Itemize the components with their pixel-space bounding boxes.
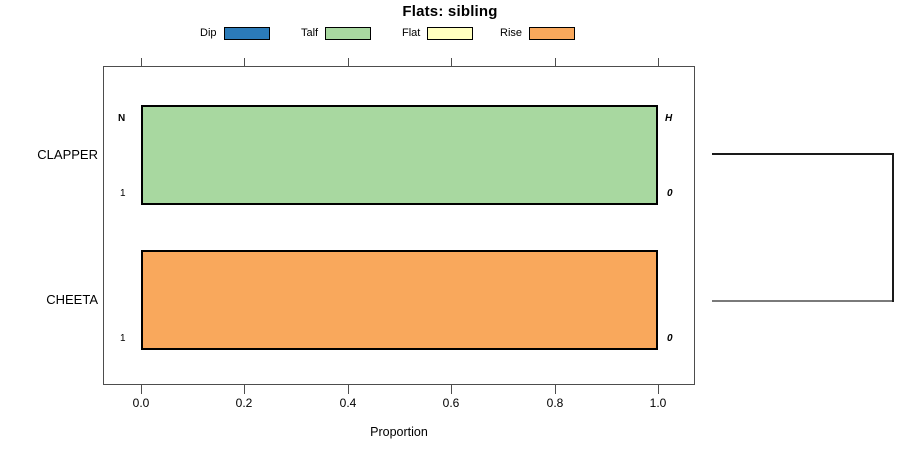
x-tick-2 — [348, 385, 349, 394]
top-tick-5 — [658, 58, 659, 67]
bar-ann-clapper-bottom-right: 0 — [667, 188, 673, 199]
legend-label-dip: Dip — [200, 27, 217, 39]
legend-label-flat: Flat — [402, 27, 420, 39]
legend-swatch-rise — [529, 27, 575, 40]
bar-ann-clapper-top-left: N — [118, 113, 125, 124]
x-tick-5 — [658, 385, 659, 394]
top-tick-1 — [244, 58, 245, 67]
chart-canvas: Flats: sibling Dip Talf Flat Rise 0.0 — [0, 0, 900, 460]
x-tick-label-2: 0.4 — [328, 396, 368, 410]
dendrogram-join-vertical — [892, 153, 894, 302]
legend-label-talf: Talf — [301, 27, 318, 39]
bar-clapper[interactable] — [141, 105, 658, 205]
x-tick-label-5: 1.0 — [638, 396, 678, 410]
dendrogram-branch-bottom — [712, 300, 894, 302]
x-tick-label-4: 0.8 — [535, 396, 575, 410]
top-tick-4 — [555, 58, 556, 67]
legend: Dip Talf Flat Rise — [200, 24, 600, 42]
bar-ann-clapper-top-right: H — [665, 113, 672, 124]
row-label-clapper: CLAPPER — [0, 147, 98, 162]
bar-ann-cheeta-bottom-left: 1 — [120, 333, 126, 344]
x-tick-label-1: 0.2 — [224, 396, 264, 410]
top-tick-3 — [451, 58, 452, 67]
x-axis-title: Proportion — [103, 425, 695, 439]
dendrogram-branch-top — [712, 153, 894, 155]
top-tick-2 — [348, 58, 349, 67]
top-tick-0 — [141, 58, 142, 67]
x-tick-3 — [451, 385, 452, 394]
legend-item-rise[interactable]: Rise — [500, 24, 575, 42]
legend-label-rise: Rise — [500, 27, 522, 39]
page-title: Flats: sibling — [0, 3, 900, 20]
row-label-cheeta: CHEETA — [0, 292, 98, 307]
x-tick-1 — [244, 385, 245, 394]
bar-ann-clapper-bottom-left: 1 — [120, 188, 126, 199]
bar-ann-cheeta-bottom-right: 0 — [667, 333, 673, 344]
bar-cheeta[interactable] — [141, 250, 658, 350]
legend-item-dip[interactable]: Dip — [200, 24, 270, 42]
x-tick-4 — [555, 385, 556, 394]
x-tick-label-3: 0.6 — [431, 396, 471, 410]
legend-swatch-flat — [427, 27, 473, 40]
legend-item-talf[interactable]: Talf — [301, 24, 371, 42]
x-tick-label-0: 0.0 — [121, 396, 161, 410]
legend-swatch-dip — [224, 27, 270, 40]
legend-swatch-talf — [325, 27, 371, 40]
legend-item-flat[interactable]: Flat — [402, 24, 473, 42]
x-tick-0 — [141, 385, 142, 394]
